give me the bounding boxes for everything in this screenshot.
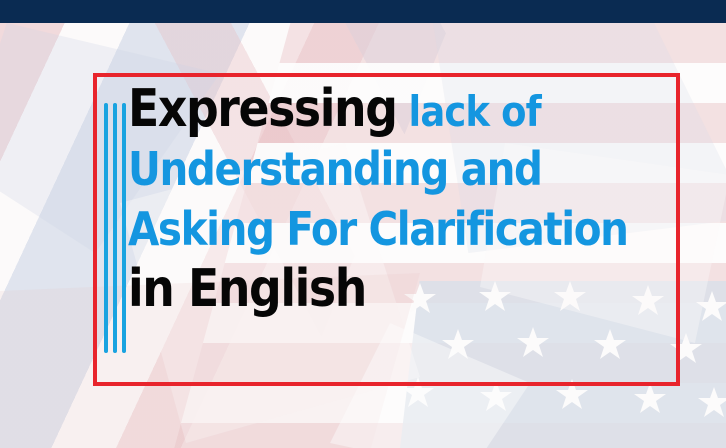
blue-accent-line-3 <box>122 103 126 353</box>
headline-line-1: Expressing lack of <box>128 86 610 148</box>
navy-header-bar <box>0 0 726 23</box>
headline-line-4: in English <box>128 266 610 326</box>
headline-line-3: Asking For Clarification <box>128 208 610 266</box>
headline-line-1-black: Expressing <box>128 79 397 139</box>
blue-accent-line-1 <box>104 103 108 353</box>
headline-line-1-blue: lack of <box>397 87 541 136</box>
poster-screen: Expressing lack of Understanding and Ask… <box>0 0 726 448</box>
blue-accent-line-2 <box>113 103 117 353</box>
headline-block: Expressing lack of Understanding and Ask… <box>128 86 676 326</box>
headline-line-2: Understanding and <box>128 148 610 208</box>
blue-accent-lines <box>104 103 130 353</box>
